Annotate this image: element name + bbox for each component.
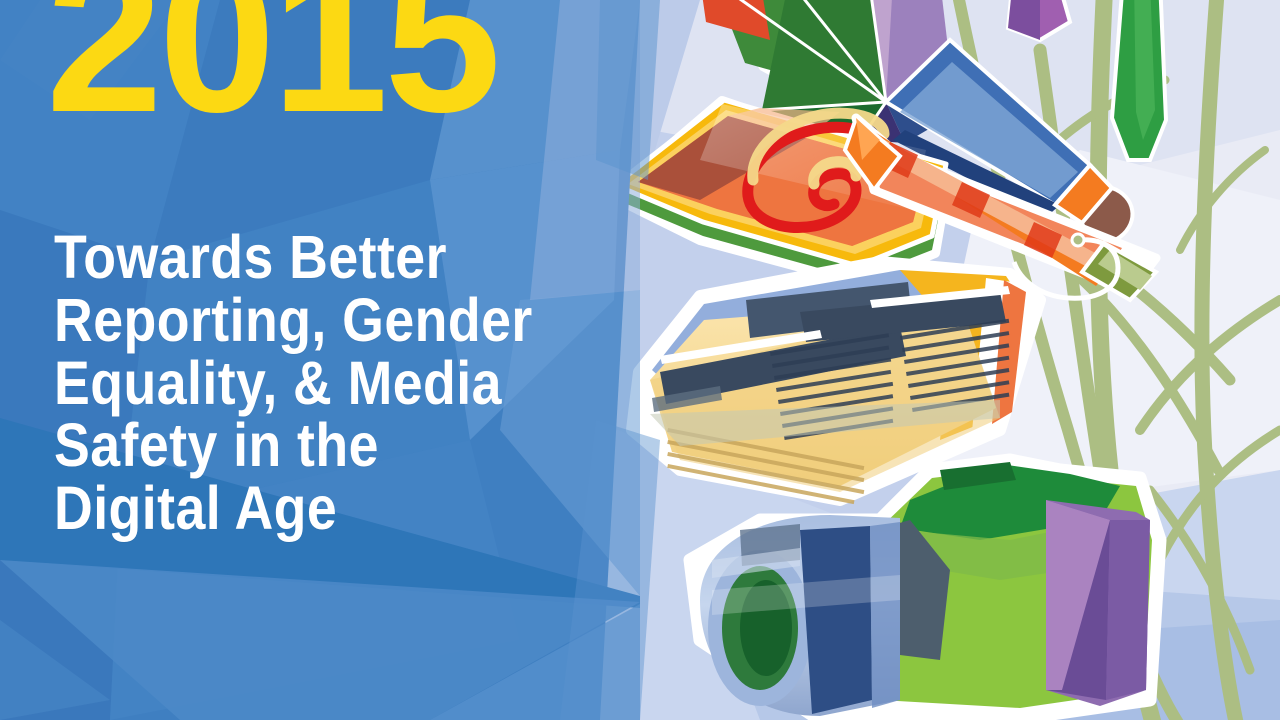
poster-canvas: 2015 Towards Better Reporting, Gender Eq… bbox=[0, 0, 1280, 720]
illustration-svg bbox=[0, 0, 1280, 720]
green-leaf-pod bbox=[1112, 0, 1166, 160]
blue-panel bbox=[0, 0, 640, 720]
camera-lens bbox=[700, 515, 900, 716]
